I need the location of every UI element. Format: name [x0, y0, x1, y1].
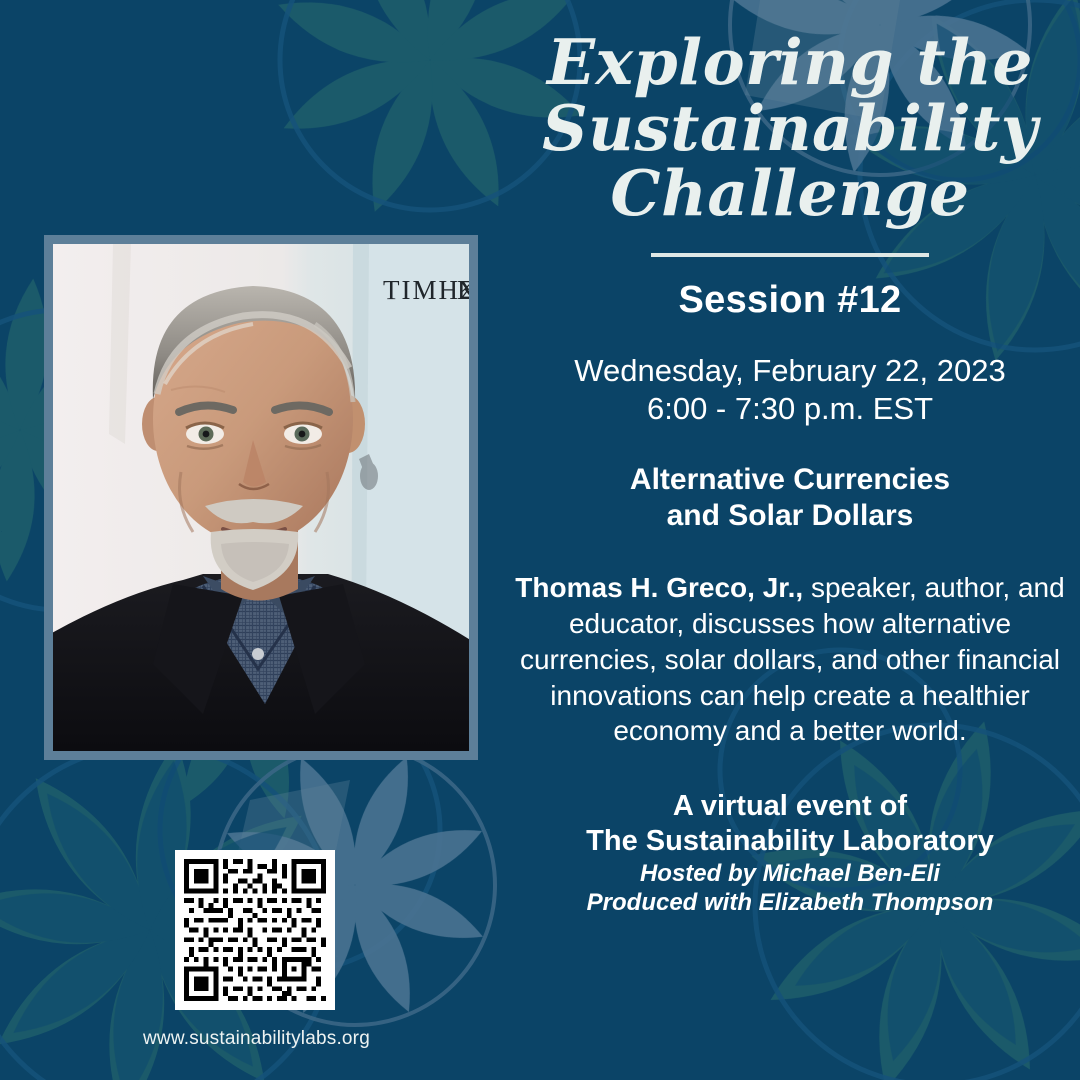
qr-code[interactable] — [175, 850, 335, 1010]
session-number: Session #12 — [500, 279, 1080, 322]
event-time: 6:00 - 7:30 p.m. EST — [500, 390, 1080, 429]
produced-with: Produced with Elizabeth Thompson — [500, 888, 1080, 917]
title-line-2: Sustainability — [514, 96, 1066, 162]
event-date: Wednesday, February 22, 2023 — [500, 352, 1080, 391]
event-footer: A virtual event of The Sustainability La… — [500, 789, 1080, 917]
title-line-3: Challenge — [514, 161, 1066, 227]
title-line-1: Exploring the — [514, 30, 1066, 96]
speaker-photo: ΤΙΜΗΣ Κ — [53, 244, 469, 751]
content-column: Exploring the Sustainability Challenge S… — [500, 0, 1080, 1080]
session-description: Thomas H. Greco, Jr., speaker, author, a… — [500, 570, 1080, 749]
svg-text:Κ: Κ — [457, 275, 469, 305]
event-datetime: Wednesday, February 22, 2023 6:00 - 7:30… — [500, 352, 1080, 430]
session-topic: Alternative Currencies and Solar Dollars — [500, 462, 1080, 534]
speaker-name: Thomas H. Greco, Jr., — [515, 572, 803, 603]
speaker-photo-frame: ΤΙΜΗΣ Κ — [44, 235, 478, 760]
topic-line-1: Alternative Currencies — [500, 462, 1080, 498]
event-type: A virtual event of — [500, 789, 1080, 824]
topic-line-2: and Solar Dollars — [500, 498, 1080, 534]
website-url[interactable]: www.sustainabilitylabs.org — [44, 1028, 469, 1050]
page-title: Exploring the Sustainability Challenge — [500, 0, 1080, 227]
organization-name: The Sustainability Laboratory — [500, 824, 1080, 859]
title-divider — [651, 253, 929, 257]
event-poster: ΤΙΜΗΣ Κ — [0, 0, 1080, 1080]
hosted-by: Hosted by Michael Ben-Eli — [500, 859, 1080, 888]
